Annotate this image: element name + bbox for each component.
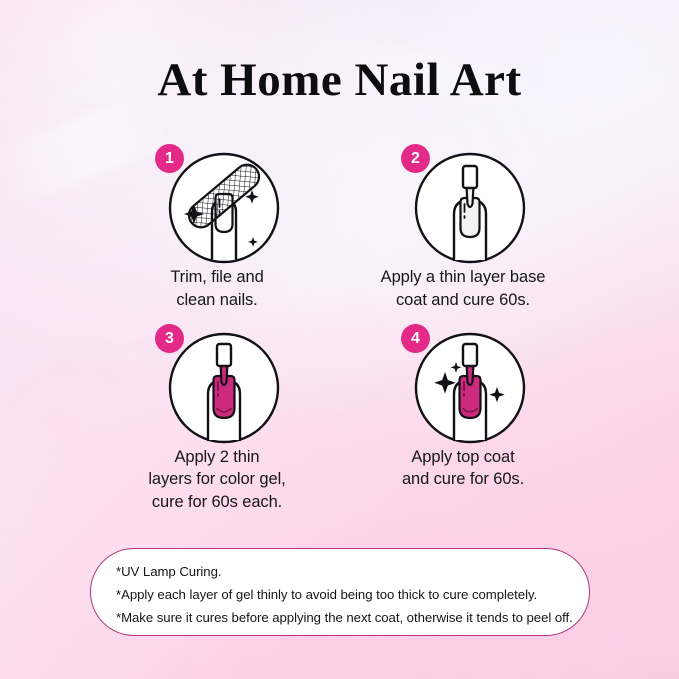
step-1-caption: Trim, file and clean nails. xyxy=(102,266,332,312)
step-3-caption-line-3: cure for 60s each. xyxy=(102,491,332,514)
step-2-caption-line-1: Apply a thin layer base xyxy=(348,266,578,289)
step-2-caption: Apply a thin layer base coat and cure 60… xyxy=(348,266,578,312)
nail-file-icon xyxy=(168,152,280,264)
footnote-line-3: *Make sure it cures before applying the … xyxy=(116,608,589,628)
base-coat-brush-icon xyxy=(414,152,526,264)
step-badge-4: 4 xyxy=(401,324,430,353)
step-card-1: 1 xyxy=(102,136,332,312)
step-card-2: 2 Apply a thin layer base coat xyxy=(348,136,578,312)
steps-grid: 1 xyxy=(102,136,578,514)
step-badge-2: 2 xyxy=(401,144,430,173)
step-2-caption-line-2: coat and cure 60s. xyxy=(348,289,578,312)
footnote-line-2: *Apply each layer of gel thinly to avoid… xyxy=(116,585,589,605)
color-gel-brush-icon xyxy=(168,332,280,444)
step-4-caption: Apply top coat and cure for 60s. xyxy=(348,446,578,492)
nail-art-instruction-poster: At Home Nail Art 1 xyxy=(0,0,679,679)
top-coat-brush-icon xyxy=(414,332,526,444)
step-4-figure: 4 xyxy=(348,316,578,444)
step-1-caption-line-2: clean nails. xyxy=(102,289,332,312)
step-3-figure: 3 xyxy=(102,316,332,444)
step-2-figure: 2 xyxy=(348,136,578,264)
footnote-box: *UV Lamp Curing. *Apply each layer of ge… xyxy=(90,548,590,636)
page-title: At Home Nail Art xyxy=(0,57,679,104)
step-badge-3: 3 xyxy=(155,324,184,353)
step-4-caption-line-1: Apply top coat xyxy=(348,446,578,469)
footnote-line-1: *UV Lamp Curing. xyxy=(116,562,589,582)
step-3-caption-line-1: Apply 2 thin xyxy=(102,446,332,469)
step-4-caption-line-2: and cure for 60s. xyxy=(348,468,578,491)
step-1-figure: 1 xyxy=(102,136,332,264)
step-1-caption-line-1: Trim, file and xyxy=(102,266,332,289)
step-3-caption-line-2: layers for color gel, xyxy=(102,468,332,491)
step-badge-1: 1 xyxy=(155,144,184,173)
step-card-3: 3 Apply 2 thin layers for color xyxy=(102,316,332,514)
step-3-caption: Apply 2 thin layers for color gel, cure … xyxy=(102,446,332,514)
step-card-4: 4 Apply top coat and xyxy=(348,316,578,514)
